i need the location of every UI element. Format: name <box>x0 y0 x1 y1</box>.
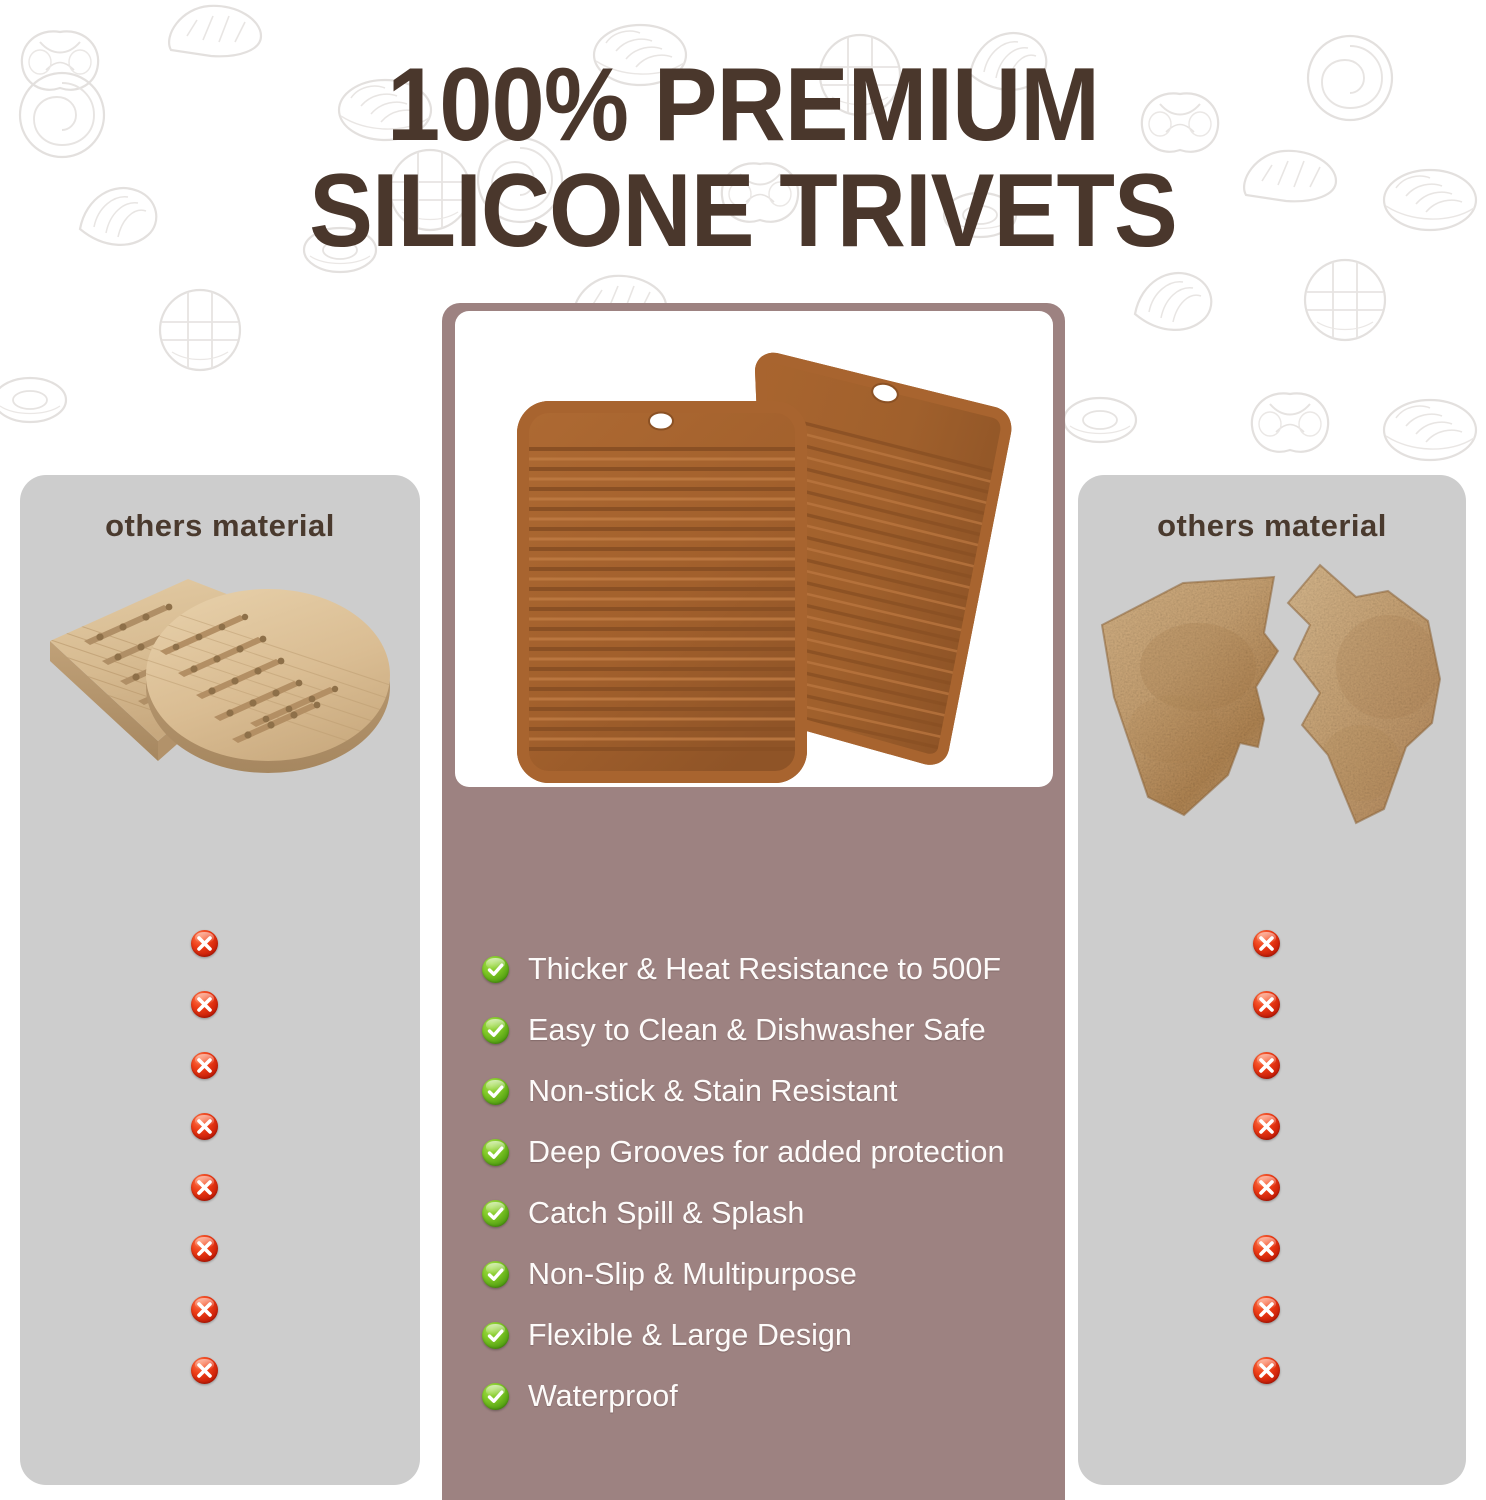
red-x-icon <box>1253 1357 1280 1384</box>
feature-row: Easy to Clean & Dishwasher Safe <box>482 1000 1042 1061</box>
green-check-icon <box>482 1261 509 1288</box>
feature-label: Flexible & Large Design <box>528 1320 852 1351</box>
red-x-icon <box>1253 1174 1280 1201</box>
feature-row: Catch Spill & Splash <box>482 1183 1042 1244</box>
red-x-icon <box>1253 930 1280 957</box>
red-x-icon <box>1253 1113 1280 1140</box>
feature-row: Waterproof <box>482 1366 1042 1427</box>
feature-label: Non-stick & Stain Resistant <box>528 1076 898 1107</box>
broken-cork-trivet-image <box>1088 547 1458 847</box>
red-x-icon <box>191 1235 218 1262</box>
page-title: 100% PREMIUM SILICONE TRIVETS <box>59 52 1426 264</box>
feature-label: Easy to Clean & Dishwasher Safe <box>528 1015 986 1046</box>
panel-left-label: others material <box>20 508 420 544</box>
feature-label: Deep Grooves for added protection <box>528 1137 1004 1168</box>
feature-row: Thicker & Heat Resistance to 500F <box>482 939 1042 1000</box>
comparison-panel-left: others material <box>20 475 420 1485</box>
feature-list: Thicker & Heat Resistance to 500F Easy t… <box>482 939 1042 1427</box>
red-x-icon <box>191 1052 218 1079</box>
green-check-icon <box>482 956 509 983</box>
feature-label: Thicker & Heat Resistance to 500F <box>528 954 1001 985</box>
red-x-icon <box>1253 1296 1280 1323</box>
red-x-icon <box>191 1113 218 1140</box>
feature-label: Non-Slip & Multipurpose <box>528 1259 857 1290</box>
red-x-icon <box>191 1357 218 1384</box>
silicone-trivets-image <box>455 311 1053 787</box>
green-check-icon <box>482 1322 509 1349</box>
feature-row: Deep Grooves for added protection <box>482 1122 1042 1183</box>
red-x-icon <box>1253 1235 1280 1262</box>
feature-row: Non-Slip & Multipurpose <box>482 1244 1042 1305</box>
feature-row: Non-stick & Stain Resistant <box>482 1061 1042 1122</box>
green-check-icon <box>482 1200 509 1227</box>
panel-right-label: others material <box>1078 508 1466 544</box>
green-check-icon <box>482 1383 509 1410</box>
green-check-icon <box>482 1139 509 1166</box>
green-check-icon <box>482 1078 509 1105</box>
red-x-icon <box>191 930 218 957</box>
comparison-panel-right: others material <box>1078 475 1466 1485</box>
bamboo-trivets-image <box>28 545 412 795</box>
green-check-icon <box>482 1017 509 1044</box>
feature-label: Waterproof <box>528 1381 678 1412</box>
red-x-icon <box>1253 991 1280 1018</box>
red-x-icon <box>191 1174 218 1201</box>
feature-row: Flexible & Large Design <box>482 1305 1042 1366</box>
page-title-line-2: SILICONE TRIVETS <box>59 158 1426 264</box>
red-x-icon <box>1253 1052 1280 1079</box>
feature-label: Catch Spill & Splash <box>528 1198 804 1229</box>
page-title-line-1: 100% PREMIUM <box>59 52 1426 158</box>
red-x-icon <box>191 991 218 1018</box>
comparison-panel-center: Thicker & Heat Resistance to 500F Easy t… <box>442 303 1065 1500</box>
product-image-card <box>455 311 1053 787</box>
red-x-icon <box>191 1296 218 1323</box>
